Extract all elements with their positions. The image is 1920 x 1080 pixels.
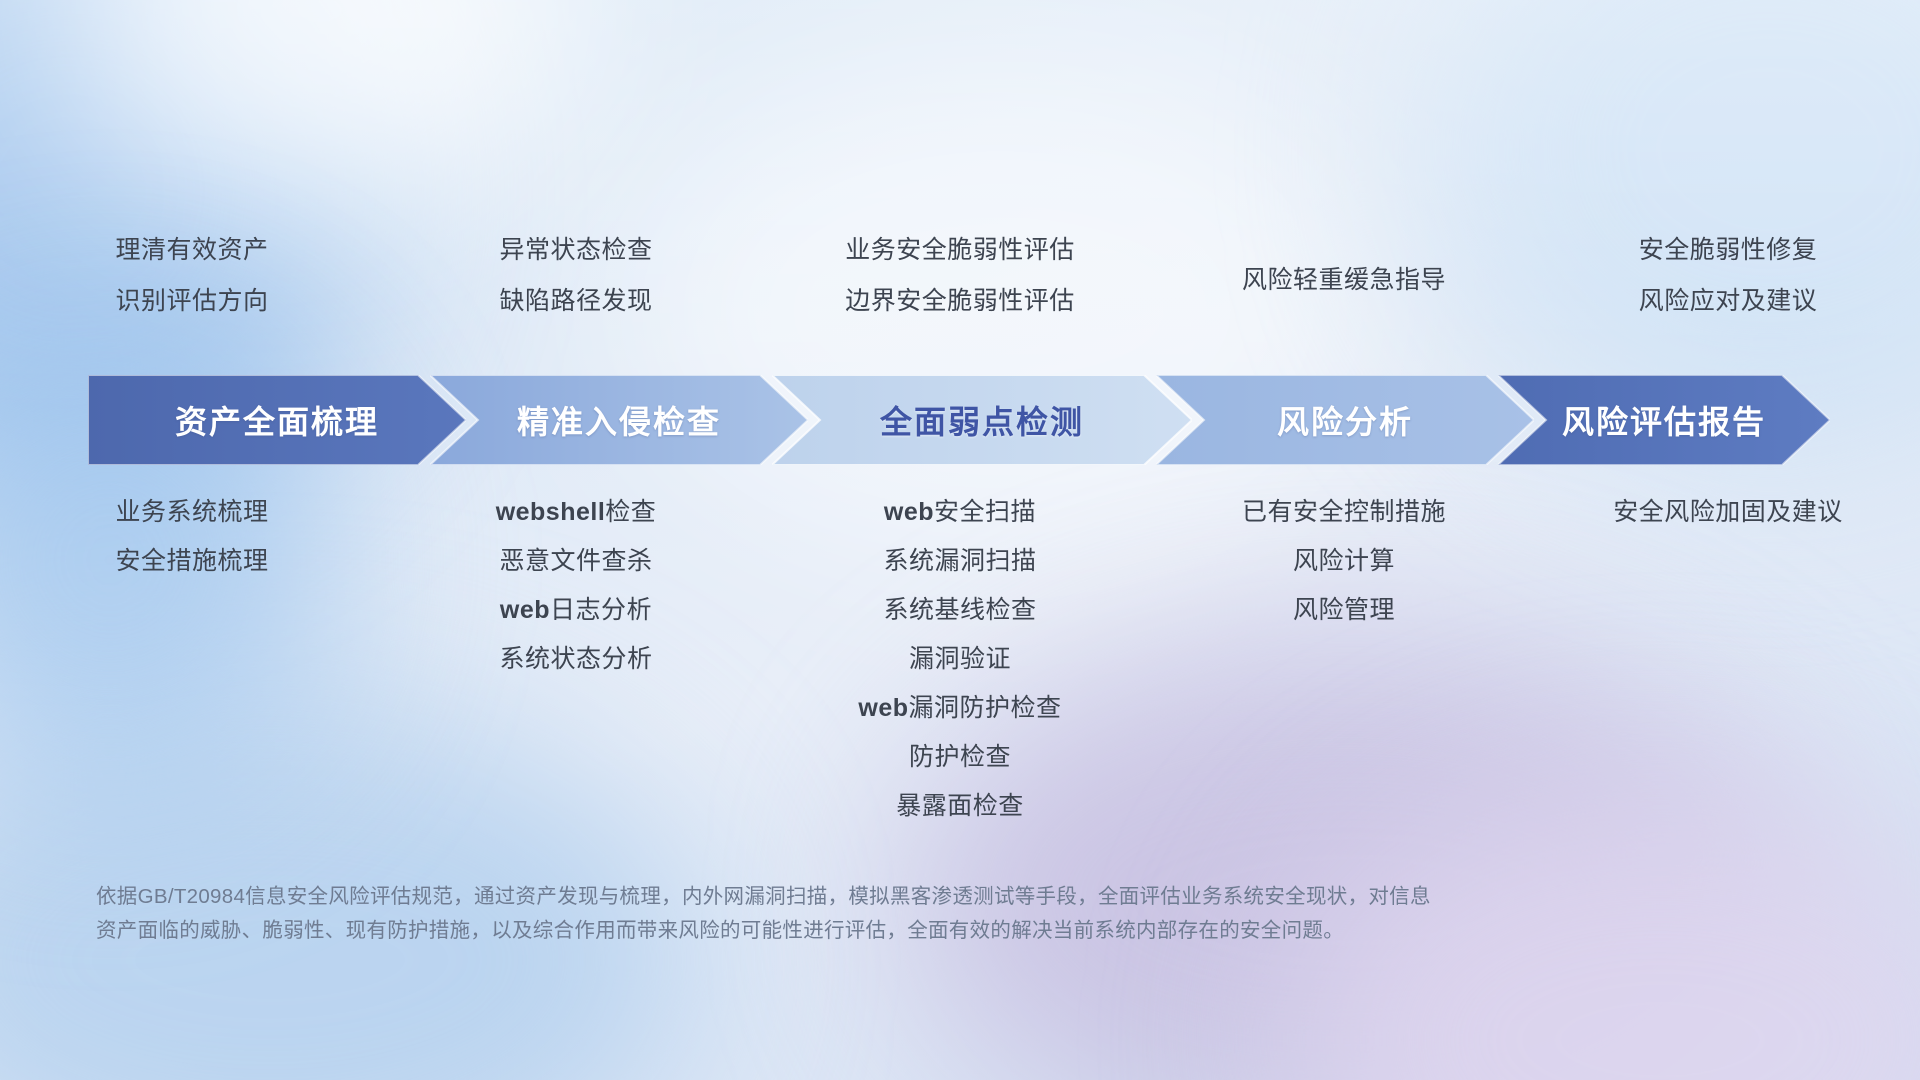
top-column-4: 风险轻重缓急指导 [1152, 238, 1536, 340]
top-column-5: 安全脆弱性修复 风险应对及建议 [1536, 238, 1920, 340]
bottom-item-cn: 系统漏洞扫描 [883, 547, 1036, 575]
bottom-column-5: 安全风险加固及建议 [1536, 500, 1920, 549]
bottom-item-cn: 安全扫描 [934, 498, 1036, 526]
bottom-item: 系统漏洞扫描 [883, 549, 1036, 574]
top-item: 风险应对及建议 [1639, 289, 1818, 314]
top-column-3: 业务安全脆弱性评估 边界安全脆弱性评估 [768, 238, 1152, 340]
stage-title: 精准入侵检查 [517, 397, 721, 443]
bottom-item-cn: 漏洞防护检查 [909, 694, 1062, 722]
top-item: 缺陷路径发现 [499, 289, 652, 314]
footer-line-1: 依据GB/T20984信息安全风险评估规范，通过资产发现与梳理，内外网漏洞扫描，… [96, 880, 1596, 914]
stage-banner: 资产全面梳理 精准入侵检查 [88, 375, 1830, 465]
bottom-item: 风险计算 [1293, 549, 1395, 574]
bottom-item: webshell检查 [496, 500, 657, 525]
stage-arrow-2[interactable]: 精准入侵检查 [430, 375, 808, 465]
top-item: 业务安全脆弱性评估 [845, 238, 1075, 263]
bottom-item-cn: 系统基线检查 [883, 596, 1036, 624]
bottom-item-cn: 检查 [605, 498, 656, 526]
top-item: 异常状态检查 [499, 238, 652, 263]
top-column-2: 异常状态检查 缺陷路径发现 [384, 238, 768, 340]
bottom-item-cn: 防护检查 [909, 743, 1011, 771]
top-item: 理清有效资产 [115, 238, 268, 263]
bottom-item: 系统状态分析 [499, 647, 652, 672]
bottom-item: 漏洞验证 [909, 647, 1011, 672]
top-item: 识别评估方向 [115, 289, 268, 314]
top-column-1: 理清有效资产 识别评估方向 [0, 238, 384, 340]
stage-title: 资产全面梳理 [175, 397, 379, 443]
bottom-item: 恶意文件查杀 [499, 549, 652, 574]
stage-arrow-5[interactable]: 风险评估报告 [1498, 375, 1830, 465]
stage-arrow-1[interactable]: 资产全面梳理 [88, 375, 466, 465]
bottom-item-en: web [884, 498, 934, 526]
bottom-item: web漏洞防护检查 [858, 696, 1061, 721]
bottom-item: web安全扫描 [884, 500, 1036, 525]
bottom-item-en: web [500, 596, 550, 624]
bottom-item: 业务系统梳理 [115, 500, 268, 525]
bottom-item: 安全措施梳理 [115, 549, 268, 574]
bottom-item: 系统基线检查 [883, 598, 1036, 623]
stage-arrow-4[interactable]: 风险分析 [1156, 375, 1534, 465]
bottom-column-2: webshell检查 恶意文件查杀 web日志分析 系统状态分析 [384, 500, 768, 696]
bottom-item-cn: 已有安全控制措施 [1242, 498, 1446, 526]
bottom-item-en: webshell [496, 498, 606, 526]
bottom-item-cn: 恶意文件查杀 [499, 547, 652, 575]
bottom-item: 安全风险加固及建议 [1613, 500, 1843, 525]
top-descriptor-row: 理清有效资产 识别评估方向 异常状态检查 缺陷路径发现 业务安全脆弱性评估 边界… [0, 238, 1920, 340]
bottom-item-cn: 日志分析 [550, 596, 652, 624]
bottom-item-cn: 系统状态分析 [499, 645, 652, 673]
bottom-item: 风险管理 [1293, 598, 1395, 623]
bottom-item-cn: 安全措施梳理 [115, 547, 268, 575]
bottom-column-3: web安全扫描 系统漏洞扫描 系统基线检查 漏洞验证 web漏洞防护检查 防护检… [768, 500, 1152, 843]
footer-note: 依据GB/T20984信息安全风险评估规范，通过资产发现与梳理，内外网漏洞扫描，… [96, 880, 1596, 948]
bottom-item: 防护检查 [909, 745, 1011, 770]
bottom-item: 已有安全控制措施 [1242, 500, 1446, 525]
bottom-item-en: web [858, 694, 908, 722]
top-item: 边界安全脆弱性评估 [845, 289, 1075, 314]
footer-line-2: 资产面临的威胁、脆弱性、现有防护措施，以及综合作用而带来风险的可能性进行评估，全… [96, 914, 1596, 948]
bottom-item-cn: 安全风险加固及建议 [1613, 498, 1843, 526]
process-diagram: 理清有效资产 识别评估方向 异常状态检查 缺陷路径发现 业务安全脆弱性评估 边界… [0, 0, 1920, 1080]
bottom-descriptor-row: 业务系统梳理 安全措施梳理 webshell检查 恶意文件查杀 web日志分析 … [0, 500, 1920, 843]
bottom-item-cn: 暴露面检查 [896, 792, 1024, 820]
bottom-item: web日志分析 [500, 598, 652, 623]
bottom-item-cn: 风险管理 [1293, 596, 1395, 624]
bottom-item-cn: 漏洞验证 [909, 645, 1011, 673]
bottom-item-cn: 业务系统梳理 [115, 498, 268, 526]
stage-title: 风险分析 [1277, 397, 1413, 443]
bottom-item: 暴露面检查 [896, 794, 1024, 819]
top-item: 风险轻重缓急指导 [1242, 268, 1446, 293]
bottom-column-1: 业务系统梳理 安全措施梳理 [0, 500, 384, 598]
stage-arrow-3[interactable]: 全面弱点检测 [772, 375, 1192, 465]
bottom-column-4: 已有安全控制措施 风险计算 风险管理 [1152, 500, 1536, 647]
bottom-item-cn: 风险计算 [1293, 547, 1395, 575]
stage-title: 风险评估报告 [1562, 397, 1766, 443]
stage-title: 全面弱点检测 [880, 397, 1084, 443]
top-item: 安全脆弱性修复 [1639, 238, 1818, 263]
